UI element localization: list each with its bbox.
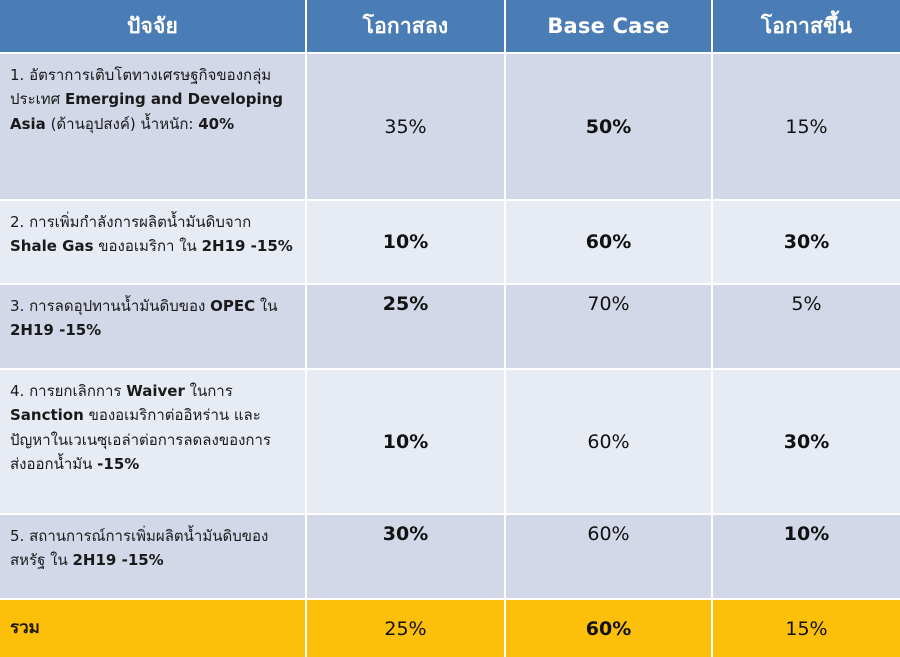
factor-line: ส่งออกน้ำมัน -15% (10, 452, 293, 476)
value-downside-1: 35% (306, 53, 505, 200)
table-row: 3. การลดอุปทานน้ำมันดิบของ OPEC ใน 2H19 … (0, 284, 900, 369)
factor-line: 4. การยกเลิกการ Waiver ในการ (10, 379, 293, 403)
factor-text-en: Sanction (10, 406, 84, 424)
factor-text: ปัญหาในเวเนซุเอล่าต่อการลดลงของการ (10, 431, 271, 449)
factor-cell-1: 1. อัตราการเติบโตทางเศรษฐกิจของกลุ่ม ประ… (0, 53, 306, 200)
factor-text: 2. การเพิ่มกำลังการผลิตน้ำมันดิบจาก (10, 213, 251, 231)
risk-scenario-table: ปัจจัย โอกาสลง Base Case โอกาสขึ้น 1. อั… (0, 0, 900, 657)
factor-text: ในการ (185, 382, 233, 400)
value-base-4: 60% (505, 369, 712, 514)
factor-text-en: Shale Gas (10, 237, 94, 255)
total-label: รวม (0, 599, 306, 657)
factor-cell-3: 3. การลดอุปทานน้ำมันดิบของ OPEC ใน 2H19 … (0, 284, 306, 369)
total-downside: 25% (306, 599, 505, 657)
value-downside-2: 10% (306, 200, 505, 284)
value-upside-3: 5% (712, 284, 900, 369)
factor-text: ส่งออกน้ำมัน (10, 455, 97, 473)
factor-text: 4. การยกเลิกการ (10, 382, 126, 400)
factor-text: ของอเมริกา ใน (94, 237, 202, 255)
factor-text-en: Asia (10, 115, 46, 133)
value-upside-1: 15% (712, 53, 900, 200)
value-downside-5: 30% (306, 514, 505, 599)
factor-line: สหรัฐ ใน 2H19 -15% (10, 548, 293, 572)
factor-line: 1. อัตราการเติบโตทางเศรษฐกิจของกลุ่ม (10, 63, 293, 87)
factor-line: ประเทศ Emerging and Developing (10, 87, 293, 111)
table-body: 1. อัตราการเติบโตทางเศรษฐกิจของกลุ่ม ประ… (0, 53, 900, 657)
factor-line: Sanction ของอเมริกาต่ออิหร่าน และ (10, 403, 293, 427)
total-upside: 15% (712, 599, 900, 657)
column-header-base-case: Base Case (505, 0, 712, 53)
value-base-2: 60% (505, 200, 712, 284)
value-downside-4: 10% (306, 369, 505, 514)
factor-text: สหรัฐ ใน (10, 551, 73, 569)
value-upside-2: 30% (712, 200, 900, 284)
table-row: 4. การยกเลิกการ Waiver ในการ Sanction ขอ… (0, 369, 900, 514)
value-base-5: 60% (505, 514, 712, 599)
value-downside-3: 25% (306, 284, 505, 369)
factor-cell-4: 4. การยกเลิกการ Waiver ในการ Sanction ขอ… (0, 369, 306, 514)
table-row: 5. สถานการณ์การเพิ่มผลิตน้ำมันดิบของ สหร… (0, 514, 900, 599)
factor-text: ของอเมริกาต่ออิหร่าน และ (84, 406, 261, 424)
factor-cell-5: 5. สถานการณ์การเพิ่มผลิตน้ำมันดิบของ สหร… (0, 514, 306, 599)
header-row: ปัจจัย โอกาสลง Base Case โอกาสขึ้น (0, 0, 900, 53)
column-header-upside: โอกาสขึ้น (712, 0, 900, 53)
factor-period-value: 2H19 -15% (10, 321, 101, 339)
factor-text-en: OPEC (210, 297, 255, 315)
factor-line: Shale Gas ของอเมริกา ใน 2H19 -15% (10, 234, 293, 258)
total-base: 60% (505, 599, 712, 657)
factor-period-value: 2H19 -15% (202, 237, 293, 255)
factor-text: ใน (255, 297, 277, 315)
factor-line: ปัญหาในเวเนซุเอล่าต่อการลดลงของการ (10, 428, 293, 452)
factor-period-value: 2H19 -15% (73, 551, 164, 569)
factor-impact-value: -15% (97, 455, 139, 473)
factor-line: 3. การลดอุปทานน้ำมันดิบของ OPEC ใน (10, 294, 293, 318)
factor-line: 2. การเพิ่มกำลังการผลิตน้ำมันดิบจาก (10, 210, 293, 234)
factor-text: 1. อัตราการเติบโตทางเศรษฐกิจของกลุ่ม (10, 66, 271, 84)
table-header: ปัจจัย โอกาสลง Base Case โอกาสขึ้น (0, 0, 900, 53)
factor-text-en: Emerging and Developing (65, 90, 283, 108)
table-row: 1. อัตราการเติบโตทางเศรษฐกิจของกลุ่ม ประ… (0, 53, 900, 200)
factor-line: 2H19 -15% (10, 318, 293, 342)
factor-text: (ด้านอุปสงค์) น้ำหนัก: (46, 115, 198, 133)
factor-line: Asia (ด้านอุปสงค์) น้ำหนัก: 40% (10, 112, 293, 136)
factor-weight-value: 40% (198, 115, 234, 133)
factor-text: 3. การลดอุปทานน้ำมันดิบของ (10, 297, 210, 315)
factor-text: ประเทศ (10, 90, 65, 108)
factor-line: 5. สถานการณ์การเพิ่มผลิตน้ำมันดิบของ (10, 524, 293, 548)
value-upside-5: 10% (712, 514, 900, 599)
total-row: รวม 25% 60% 15% (0, 599, 900, 657)
value-base-1: 50% (505, 53, 712, 200)
factor-text-en: Waiver (126, 382, 185, 400)
column-header-downside: โอกาสลง (306, 0, 505, 53)
value-upside-4: 30% (712, 369, 900, 514)
factor-text: 5. สถานการณ์การเพิ่มผลิตน้ำมันดิบของ (10, 527, 268, 545)
value-base-3: 70% (505, 284, 712, 369)
factor-cell-2: 2. การเพิ่มกำลังการผลิตน้ำมันดิบจาก Shal… (0, 200, 306, 284)
table-row: 2. การเพิ่มกำลังการผลิตน้ำมันดิบจาก Shal… (0, 200, 900, 284)
column-header-factor: ปัจจัย (0, 0, 306, 53)
risk-scenario-table-container: ปัจจัย โอกาสลง Base Case โอกาสขึ้น 1. อั… (0, 0, 900, 573)
